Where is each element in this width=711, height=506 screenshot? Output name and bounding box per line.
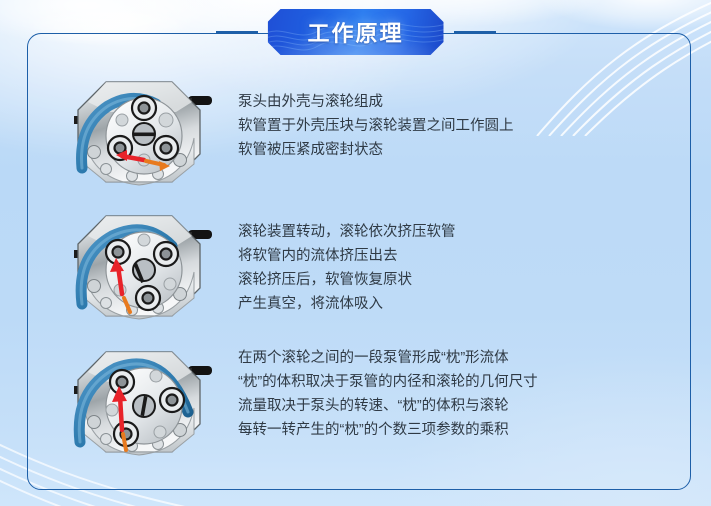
- title-rule-left: [216, 31, 258, 33]
- step-3-line-4: 每转一转产生的“枕”的个数三项参数的乘积: [238, 418, 680, 442]
- title-banner: 工作原理: [268, 9, 444, 55]
- poster-canvas: 工作原理: [0, 0, 711, 506]
- step-row-3: 在两个滚轮之间的一段泵管形成“枕”形流体 “枕”的体积取决于泵管的内径和滚轮的几…: [60, 338, 680, 470]
- step-3-line-1: 在两个滚轮之间的一段泵管形成“枕”形流体: [238, 346, 680, 370]
- pump-head-diagram-2: [60, 202, 230, 334]
- step-row-2: 滚轮装置转动，滚轮依次挤压软管 将软管内的流体挤压出去 滚轮挤压后，软管恢复原状…: [60, 202, 680, 334]
- step-2-line-4: 产生真空，将流体吸入: [238, 292, 680, 316]
- title-banner-row: 工作原理: [0, 8, 711, 56]
- pump-head-diagram-1: [60, 68, 230, 200]
- step-2-line-3: 滚轮挤压后，软管恢复原状: [238, 268, 680, 292]
- step-2-line-1: 滚轮装置转动，滚轮依次挤压软管: [238, 220, 680, 244]
- step-2-line-2: 将软管内的流体挤压出去: [238, 244, 680, 268]
- step-1-line-3: 软管被压紧成密封状态: [238, 138, 680, 162]
- step-text-1: 泵头由外壳与滚轮组成 软管置于外壳压块与滚轮装置之间工作圆上 软管被压紧成密封状…: [238, 68, 680, 162]
- step-1-line-2: 软管置于外壳压块与滚轮装置之间工作圆上: [238, 114, 680, 138]
- step-1-line-1: 泵头由外壳与滚轮组成: [238, 90, 680, 114]
- pump-head-diagram-3: [60, 338, 230, 470]
- step-3-line-3: 流量取决于泵头的转速、“枕”的体积与滚轮: [238, 394, 680, 418]
- step-text-3: 在两个滚轮之间的一段泵管形成“枕”形流体 “枕”的体积取决于泵管的内径和滚轮的几…: [238, 338, 680, 442]
- page-title: 工作原理: [307, 16, 403, 48]
- step-3-line-2: “枕”的体积取决于泵管的内径和滚轮的几何尺寸: [238, 370, 680, 394]
- step-row-1: 泵头由外壳与滚轮组成 软管置于外壳压块与滚轮装置之间工作圆上 软管被压紧成密封状…: [60, 68, 680, 200]
- step-text-2: 滚轮装置转动，滚轮依次挤压软管 将软管内的流体挤压出去 滚轮挤压后，软管恢复原状…: [238, 202, 680, 316]
- title-rule-right: [454, 31, 496, 33]
